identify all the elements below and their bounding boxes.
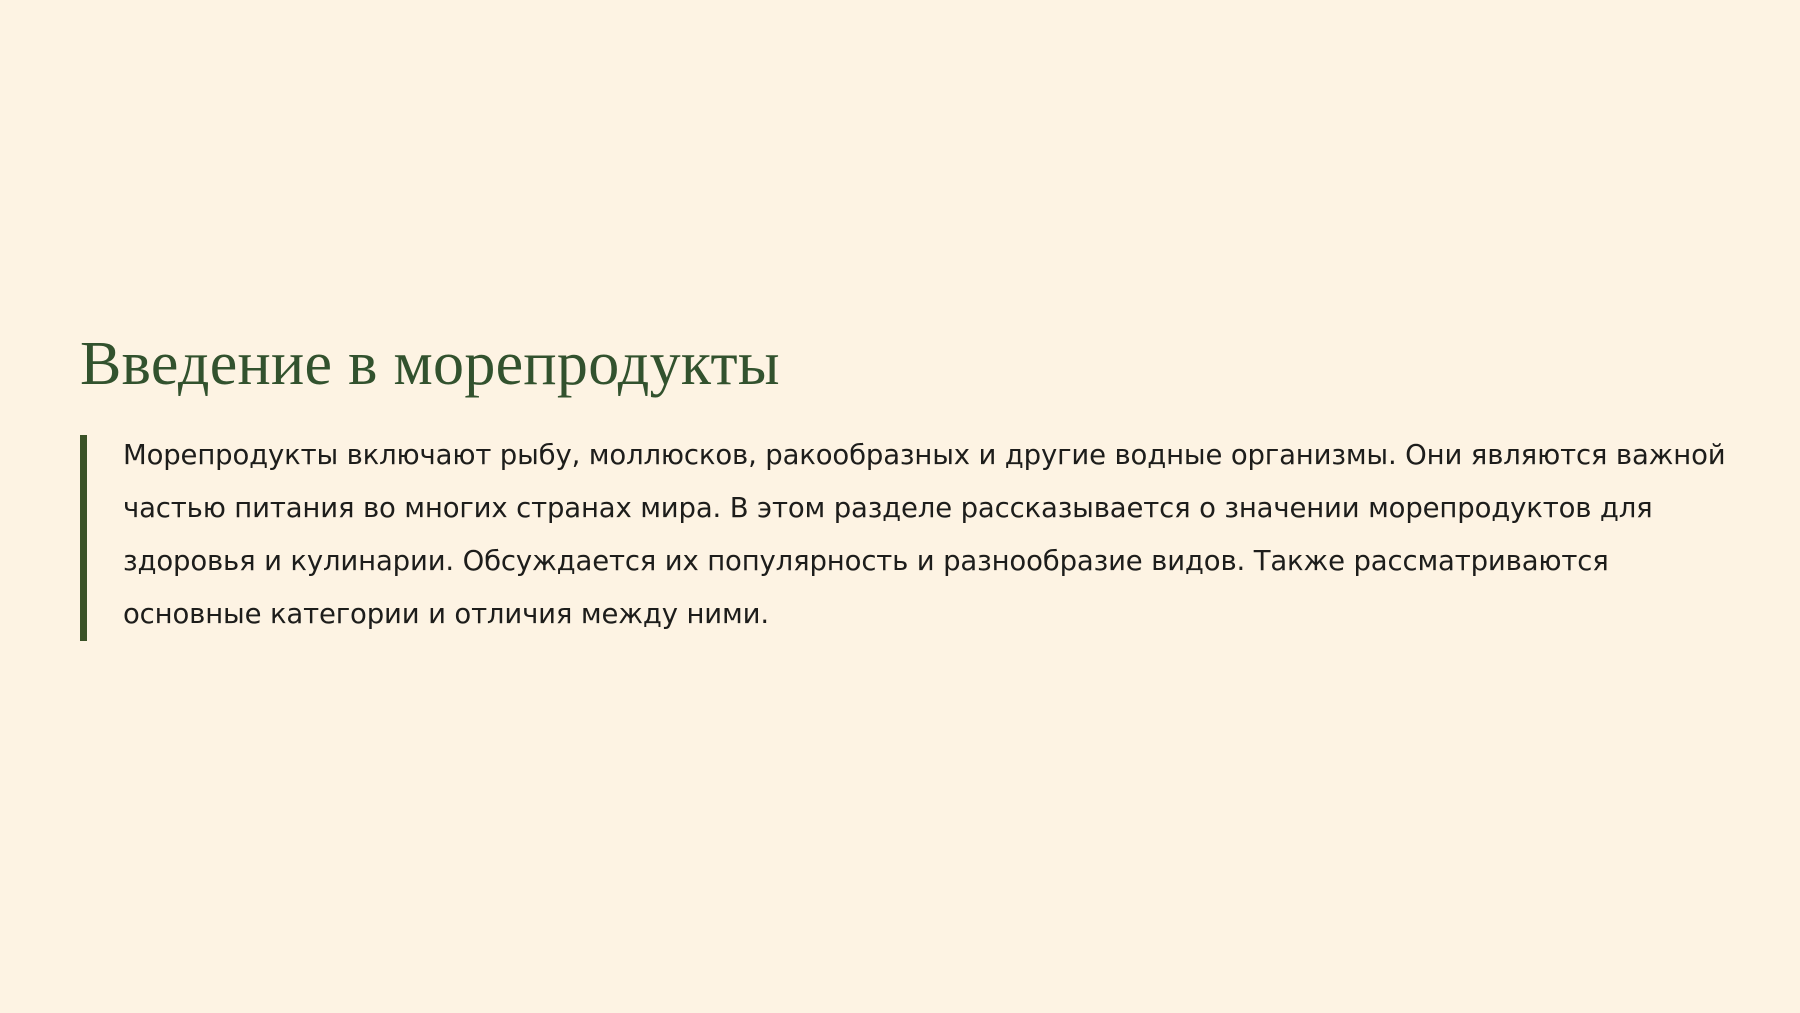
- slide-canvas: Введение в морепродукты Морепродукты вкл…: [0, 0, 1800, 1013]
- accent-bar: [80, 435, 87, 641]
- slide-content: Введение в морепродукты Морепродукты вкл…: [80, 330, 1740, 641]
- page-title: Введение в морепродукты: [80, 330, 1740, 399]
- body-callout: Морепродукты включают рыбу, моллюсков, р…: [80, 429, 1740, 641]
- body-paragraph: Морепродукты включают рыбу, моллюсков, р…: [123, 429, 1740, 641]
